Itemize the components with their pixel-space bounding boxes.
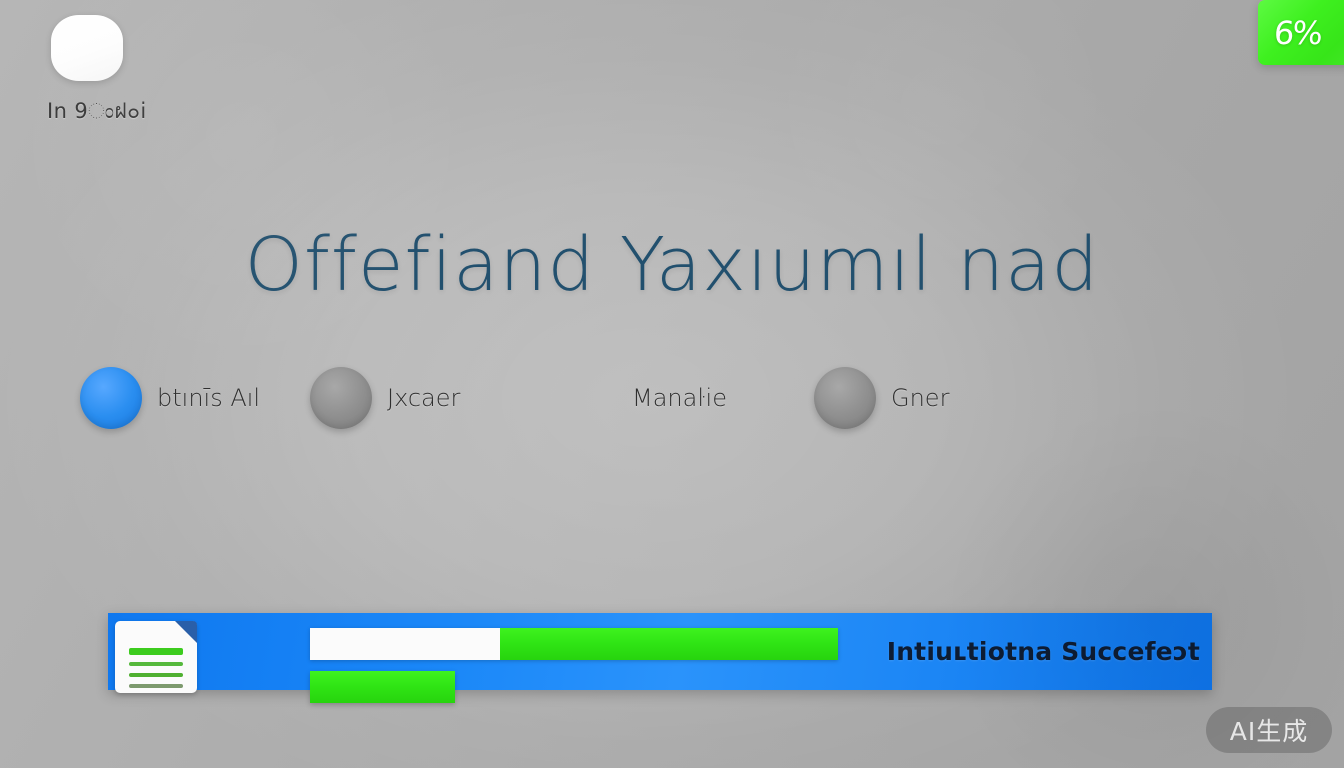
document-line xyxy=(129,684,183,688)
progress-bar-track[interactable] xyxy=(310,628,838,660)
document-line xyxy=(129,673,183,677)
document-fold-corner-icon xyxy=(175,621,197,643)
document-lines-icon xyxy=(129,648,183,695)
document-line xyxy=(129,648,183,655)
app-tile-icon[interactable] xyxy=(51,15,123,81)
option-label-3: Manaŀie xyxy=(632,384,727,412)
progress-badge-value: 6% xyxy=(1273,14,1322,52)
secondary-progress-bar xyxy=(310,671,455,703)
progress-bar-fill xyxy=(500,628,838,660)
status-text: Intiuʟtiotna Succefeɔt xyxy=(887,613,1200,690)
progress-badge: 6% xyxy=(1258,0,1344,65)
option-item-2[interactable]: Jxcaer xyxy=(310,362,460,434)
radio-circle-1[interactable] xyxy=(80,367,142,429)
ai-watermark-label: AI生成 xyxy=(1230,712,1308,748)
screen-root: In 9ಂฝ๐i 6% Offefiand Yaxıumıl nad btınī… xyxy=(0,0,1344,768)
document-line xyxy=(129,662,183,666)
option-item-1[interactable]: btınīs Aıl xyxy=(80,362,260,434)
page-title: Offefiand Yaxıumıl nad xyxy=(0,228,1344,302)
option-item-3[interactable]: Manaŀie xyxy=(570,362,727,434)
option-item-4[interactable]: Gner xyxy=(814,362,949,434)
radio-circle-4[interactable] xyxy=(814,367,876,429)
bottom-status-panel: Intiuʟtiotna Succefeɔt xyxy=(108,613,1212,690)
option-label-1: btınīs Aıl xyxy=(157,384,260,412)
option-label-4: Gner xyxy=(891,384,949,412)
radio-circle-2[interactable] xyxy=(310,367,372,429)
app-tile-label: In 9ಂฝ๐i xyxy=(47,95,147,128)
document-file-icon[interactable] xyxy=(115,621,197,693)
ai-generated-watermark: AI生成 xyxy=(1206,707,1332,753)
option-label-2: Jxcaer xyxy=(387,384,460,412)
options-row: btınīs Aıl Jxcaer Manaŀie Gner xyxy=(80,362,1110,434)
